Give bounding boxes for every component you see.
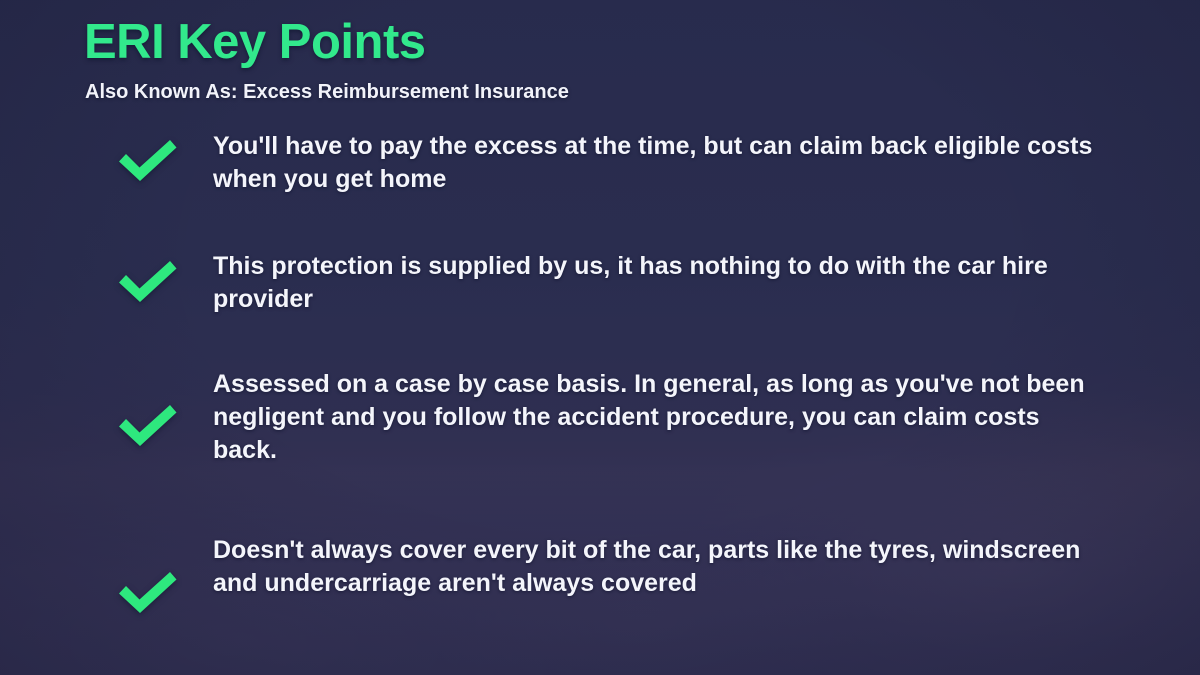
slide-root: ERI Key Points Also Known As: Excess Rei… xyxy=(0,0,1200,675)
slide-title: ERI Key Points xyxy=(84,17,426,68)
list-item: This protection is supplied by us, it ha… xyxy=(80,250,1120,316)
check-icon xyxy=(115,257,179,307)
list-item-text: You'll have to pay the excess at the tim… xyxy=(213,130,1093,196)
check-icon-wrapper xyxy=(80,534,213,618)
list-item-text: Doesn't always cover every bit of the ca… xyxy=(213,534,1093,600)
check-icon xyxy=(115,136,179,186)
list-item: Doesn't always cover every bit of the ca… xyxy=(80,534,1120,618)
list-item-text: This protection is supplied by us, it ha… xyxy=(213,250,1093,316)
slide-content: ERI Key Points Also Known As: Excess Rei… xyxy=(0,0,1200,675)
check-icon-wrapper xyxy=(80,368,213,451)
check-icon-wrapper xyxy=(80,250,213,307)
key-points-list: You'll have to pay the excess at the tim… xyxy=(80,130,1120,618)
list-item-text: Assessed on a case by case basis. In gen… xyxy=(213,368,1093,467)
list-item: Assessed on a case by case basis. In gen… xyxy=(80,368,1120,467)
check-icon-wrapper xyxy=(80,130,213,186)
list-item: You'll have to pay the excess at the tim… xyxy=(80,130,1120,196)
slide-subtitle: Also Known As: Excess Reimbursement Insu… xyxy=(85,81,569,104)
check-icon xyxy=(115,568,179,618)
check-icon xyxy=(115,401,179,451)
